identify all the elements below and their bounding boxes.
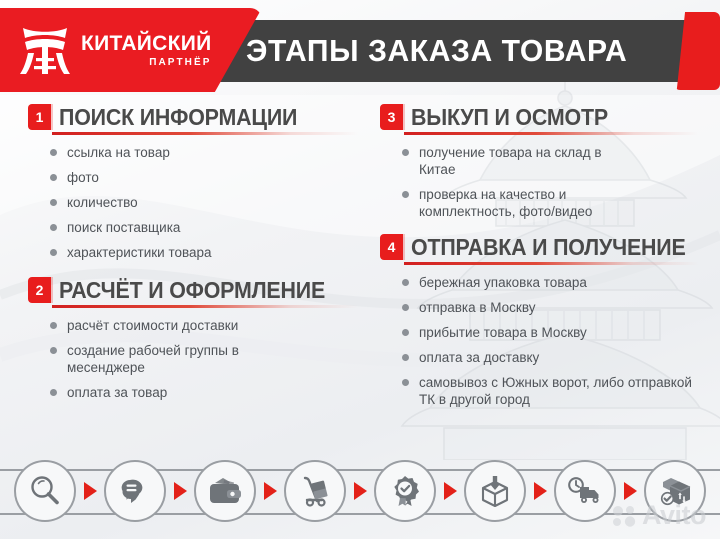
section-4-header: 4 ОТПРАВКА И ПОЛУЧЕНИЕ (380, 234, 698, 260)
section-3-header: 3 ВЫКУП И ОСМОТР (380, 104, 698, 130)
arrow-icon (84, 482, 97, 500)
section-2: 2 РАСЧЁТ И ОФОРМЛЕНИЕ расчёт стоимости д… (28, 277, 358, 401)
arrow-icon (264, 482, 277, 500)
list-item: оплата за товар (50, 384, 358, 401)
torii-gate-icon (18, 24, 72, 76)
section-2-title: РАСЧЁТ И ОФОРМЛЕНИЕ (59, 277, 325, 303)
list-item: проверка на качество и комплектность, фо… (402, 186, 634, 220)
section-1-bullets: ссылка на товар фото количество поиск по… (28, 144, 358, 261)
section-4: 4 ОТПРАВКА И ПОЛУЧЕНИЕ бережная упаковка… (380, 234, 698, 408)
section-1: 1 ПОИСК ИНФОРМАЦИИ ссылка на товар фото … (28, 104, 358, 261)
list-item: расчёт стоимости доставки (50, 317, 358, 334)
arrow-icon (444, 482, 457, 500)
section-2-rule (52, 305, 358, 308)
section-4-rule (404, 262, 698, 265)
section-3-bullets: получение товара на склад в Китае провер… (380, 144, 698, 220)
list-item: отправка в Москву (402, 299, 698, 316)
section-4-title: ОТПРАВКА И ПОЛУЧЕНИЕ (411, 234, 686, 260)
list-item: создание рабочей группы в месенджере (50, 342, 257, 376)
quality-badge-icon (374, 460, 436, 522)
wallet-icon (194, 460, 256, 522)
magnifier-icon (14, 460, 76, 522)
section-4-number: 4 (380, 234, 403, 260)
section-1-header: 1 ПОИСК ИНФОРМАЦИИ (28, 104, 358, 130)
section-4-bullets: бережная упаковка товара отправка в Моск… (380, 274, 698, 408)
avito-dots-icon (612, 505, 638, 527)
header: КИТАЙСКИЙ ПАРТНЁР ЭТАПЫ ЗАКАЗА ТОВАРА (0, 8, 720, 92)
list-item: бережная упаковка товара (402, 274, 698, 291)
section-1-title: ПОИСК ИНФОРМАЦИИ (59, 104, 297, 130)
section-1-rule (52, 132, 358, 135)
brand-name: КИТАЙСКИЙ (81, 33, 212, 54)
section-3-title: ВЫКУП И ОСМОТР (411, 104, 608, 130)
column-right: 3 ВЫКУП И ОСМОТР получение товара на скл… (380, 104, 698, 416)
section-3-number: 3 (380, 104, 403, 130)
page-title: ЭТАПЫ ЗАКАЗА ТОВАРА (246, 28, 673, 74)
section-3-rule (404, 132, 698, 135)
list-item: оплата за доставку (402, 349, 698, 366)
truck-clock-icon (554, 460, 616, 522)
list-item: поиск поставщика (50, 219, 358, 236)
list-item: самовывоз с Южных ворот, либо отправкой … (402, 374, 698, 408)
list-item: фото (50, 169, 358, 186)
section-2-bullets: расчёт стоимости доставки создание рабоч… (28, 317, 358, 401)
brand-logo[interactable]: КИТАЙСКИЙ ПАРТНЁР (18, 24, 212, 76)
section-1-number: 1 (28, 104, 51, 130)
list-item: количество (50, 194, 358, 211)
box-packing-icon (464, 460, 526, 522)
arrow-icon (174, 482, 187, 500)
hand-truck-icon (284, 460, 346, 522)
list-item: ссылка на товар (50, 144, 358, 161)
arrow-icon (354, 482, 367, 500)
avito-wordmark: Avito (642, 500, 706, 531)
list-item: прибытие товара в Москву (402, 324, 698, 341)
brand-subtitle: ПАРТНЁР (81, 58, 212, 68)
arrow-icon (534, 482, 547, 500)
column-left: 1 ПОИСК ИНФОРМАЦИИ ссылка на товар фото … (28, 104, 358, 409)
poster-root: КИТАЙСКИЙ ПАРТНЁР ЭТАПЫ ЗАКАЗА ТОВАРА 1 … (0, 0, 720, 539)
strip-items (14, 455, 706, 527)
process-strip: Avito (0, 447, 720, 539)
section-2-number: 2 (28, 277, 51, 303)
section-2-header: 2 РАСЧЁТ И ОФОРМЛЕНИЕ (28, 277, 358, 303)
list-item: получение товара на склад в Китае (402, 144, 634, 178)
section-3: 3 ВЫКУП И ОСМОТР получение товара на скл… (380, 104, 698, 220)
chat-bubbles-icon (104, 460, 166, 522)
arrow-icon (624, 482, 637, 500)
avito-watermark: Avito (612, 500, 706, 531)
list-item: характеристики товара (50, 244, 358, 261)
